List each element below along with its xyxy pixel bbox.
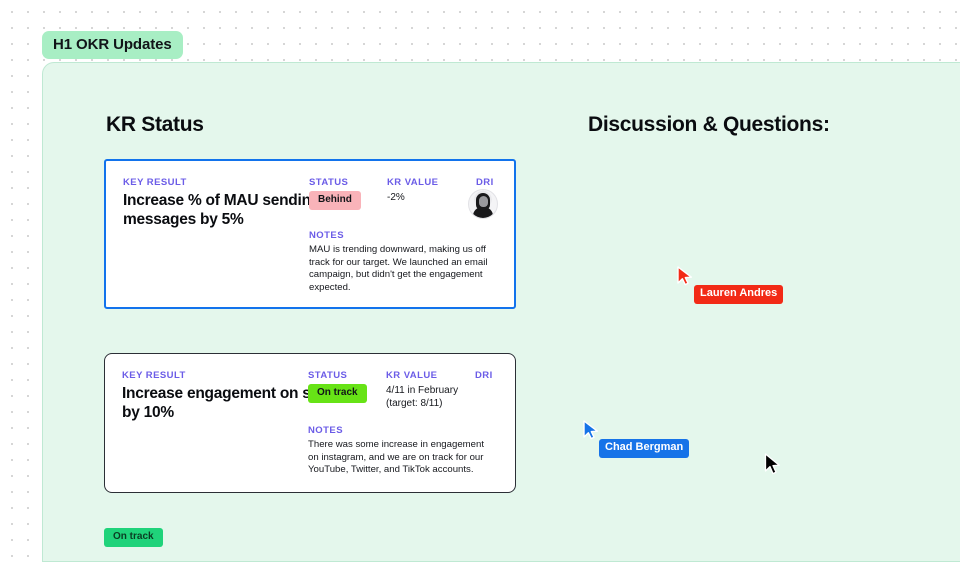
notes-body: There was some increase in engagement on…	[308, 439, 494, 477]
status-badge[interactable]: On track	[308, 384, 367, 403]
status-label: STATUS	[309, 177, 348, 188]
dri-label: DRI	[475, 370, 493, 381]
notes-label: NOTES	[309, 230, 344, 241]
dri-label: DRI	[476, 177, 494, 188]
avatar[interactable]	[468, 189, 498, 219]
mouse-pointer-icon	[764, 453, 782, 482]
cursor-name-label: Lauren Andres	[694, 285, 783, 304]
kr-status-heading: KR Status	[106, 113, 204, 137]
kr-value-label: KR VALUE	[387, 177, 438, 188]
collaborator-cursor-lauren: Lauren Andres	[676, 266, 696, 288]
kr-value: -2%	[387, 192, 405, 205]
status-label: STATUS	[308, 370, 347, 381]
status-badge[interactable]: Behind	[309, 191, 361, 210]
kr-card[interactable]: KEY RESULT Increase engagement on social…	[104, 353, 516, 493]
cursor-arrow-icon	[676, 266, 696, 288]
notes-body: MAU is trending downward, making us off …	[309, 244, 495, 294]
status-badge-partial[interactable]: On track	[104, 528, 163, 547]
cursor-name-label: Chad Bergman	[599, 439, 689, 458]
board-canvas[interactable]: KR Status Discussion & Questions: KEY RE…	[42, 62, 960, 562]
kr-value: 4/11 in February (target: 8/11)	[386, 385, 458, 410]
kr-value-label: KR VALUE	[386, 370, 437, 381]
avatar-face-shape	[479, 196, 488, 207]
notes-label: NOTES	[308, 425, 343, 436]
board-title-chip[interactable]: H1 OKR Updates	[42, 31, 183, 59]
key-result-label: KEY RESULT	[122, 370, 186, 381]
cursor-arrow-icon	[582, 420, 602, 442]
discussion-heading: Discussion & Questions:	[588, 113, 830, 137]
key-result-label: KEY RESULT	[123, 177, 187, 188]
collaborator-cursor-chad: Chad Bergman	[582, 420, 602, 442]
kr-card[interactable]: KEY RESULT Increase % of MAU sending mes…	[104, 159, 516, 309]
